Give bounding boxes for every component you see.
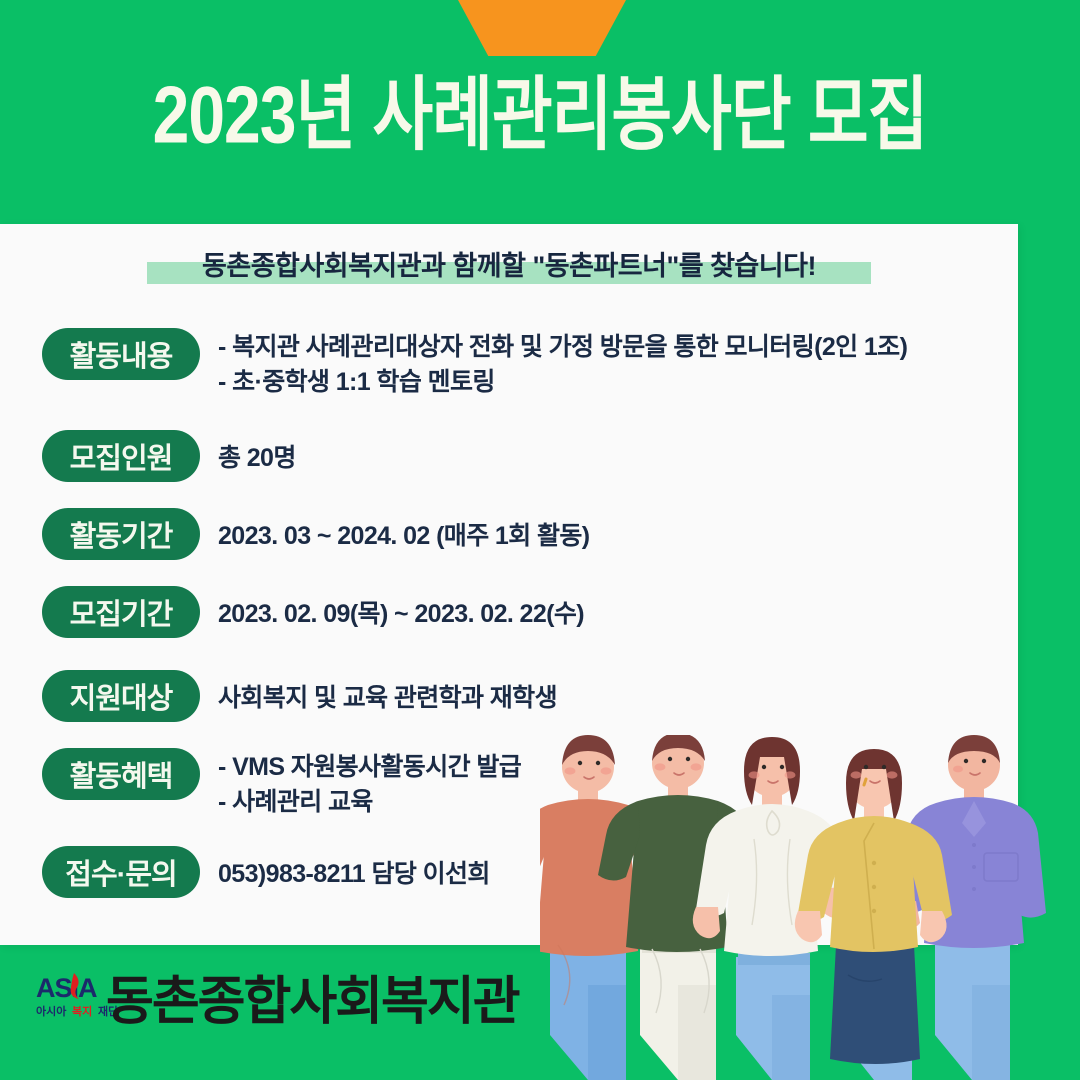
info-row-activity-period: 활동기간 2023. 03 ~ 2024. 02 (매주 1회 활동) [42, 508, 590, 560]
info-row-recruit-count: 모집인원 총 20명 [42, 430, 296, 482]
info-row-recruit-period: 모집기간 2023. 02. 09(목) ~ 2023. 02. 22(수) [42, 586, 584, 638]
subtitle-text: 동촌종합사회복지관과 함께할 "동촌파트너"를 찾습니다! [202, 251, 816, 281]
svg-text:ASIA: ASIA [36, 973, 97, 1003]
organization-name: 동촌종합사회복지관 [106, 959, 519, 1034]
page-title: 2023년 사례관리봉사단 모집 [0, 74, 1080, 155]
row-label-pill: 활동혜택 [42, 748, 200, 800]
poster-footer: ASIA 아시아 복지 재단 동촌종합사회복지관 [0, 945, 1080, 1080]
row-label-pill: 모집인원 [42, 430, 200, 482]
row-values: 사회복지 및 교육 관련학과 재학생 [218, 670, 557, 716]
info-row-activity-content: 활동내용 - 복지관 사례관리대상자 전화 및 가정 방문을 통한 모니터링(2… [42, 328, 907, 400]
row-label-pill: 활동기간 [42, 508, 200, 560]
info-row-benefits: 활동혜택 - VMS 자원봉사활동시간 발급 - 사례관리 교육 [42, 748, 521, 820]
row-value-line: 2023. 03 ~ 2024. 02 (매주 1회 활동) [218, 519, 590, 554]
row-value-line: 053)983-8211 담당 이선희 [218, 857, 490, 892]
row-value-line: 총 20명 [218, 441, 296, 476]
row-value-line: - 복지관 사례관리대상자 전화 및 가정 방문을 통한 모니터링(2인 1조) [218, 330, 907, 365]
row-value-line: 2023. 02. 09(목) ~ 2023. 02. 22(수) [218, 597, 584, 632]
info-row-eligibility: 지원대상 사회복지 및 교육 관련학과 재학생 [42, 670, 557, 722]
row-values: 053)983-8211 담당 이선희 [218, 846, 490, 892]
row-values: 2023. 02. 09(목) ~ 2023. 02. 22(수) [218, 586, 584, 632]
row-values: - VMS 자원봉사활동시간 발급 - 사례관리 교육 [218, 748, 521, 820]
info-row-contact: 접수·문의 053)983-8211 담당 이선희 [42, 846, 490, 898]
svg-text:복지: 복지 [72, 1004, 92, 1018]
row-value-line: - VMS 자원봉사활동시간 발급 [218, 750, 521, 785]
row-values: 2023. 03 ~ 2024. 02 (매주 1회 활동) [218, 508, 590, 554]
row-values: 총 20명 [218, 430, 296, 476]
row-value-line: - 초·중학생 1:1 학습 멘토링 [218, 365, 907, 400]
orange-trapezoid-decoration [458, 0, 626, 56]
row-label-pill: 활동내용 [42, 328, 200, 380]
svg-text:아시아: 아시아 [36, 1004, 67, 1018]
row-label-pill: 모집기간 [42, 586, 200, 638]
row-values: - 복지관 사례관리대상자 전화 및 가정 방문을 통한 모니터링(2인 1조)… [218, 328, 907, 400]
row-value-line: - 사례관리 교육 [218, 785, 521, 820]
row-value-line: 사회복지 및 교육 관련학과 재학생 [218, 681, 557, 716]
row-label-pill: 접수·문의 [42, 846, 200, 898]
row-label-pill: 지원대상 [42, 670, 200, 722]
poster-root: 2023년 사례관리봉사단 모집 동촌종합사회복지관과 함께할 "동촌파트너"를… [0, 0, 1080, 1080]
poster-header: 2023년 사례관리봉사단 모집 [0, 0, 1080, 224]
